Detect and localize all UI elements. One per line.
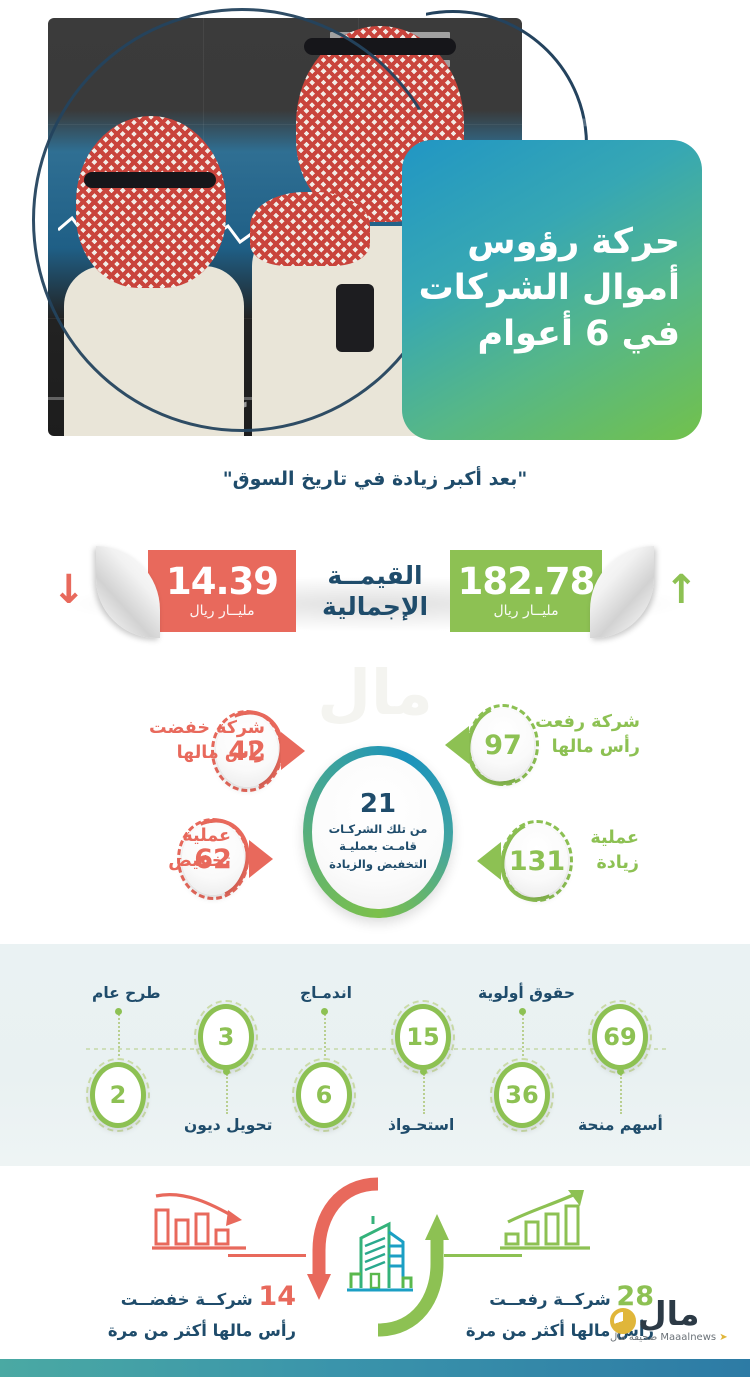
decrease-unit: مليــار ريال [189, 603, 254, 619]
arrow-marker-right-bottom-icon [477, 842, 501, 880]
decreased-more-than-once-text: 14 شركــة خفضــت رأس مالها أكثر من مرة [96, 1276, 296, 1343]
twitter-icon: ➤ [719, 1332, 727, 1343]
timeline-stem-5 [620, 1074, 622, 1114]
connector-line-right [444, 1254, 522, 1257]
timeline-node-3: 15 [391, 1000, 455, 1074]
infographic-page: شركات مال حركة رؤوس أموال الشركات في 6 أ [0, 0, 750, 1377]
decreased-line-2: رأس مالها أكثر من مرة [96, 1318, 296, 1344]
logo-sub-text: صحيفة مال [610, 1332, 657, 1343]
label-line-1: شركة رفعت [485, 710, 640, 735]
arrow-up-icon: ↑ [664, 570, 698, 610]
increase-value-box: 182.78 مليــار ريال [450, 550, 602, 632]
label-line-1: عملية [111, 824, 231, 849]
timeline-stem-1 [226, 1074, 228, 1114]
logo-word: مال [638, 1297, 699, 1330]
label-companies-increased: شركة رفعت رأس مالها [485, 710, 640, 761]
timeline-dot-2 [321, 1008, 328, 1015]
center-ring-content: 21 من تلك الشركـات قامـت بعمليـة التخفيض… [312, 755, 444, 909]
footer-strip [0, 1359, 750, 1377]
timeline-value: 36 [499, 1067, 545, 1123]
title-line-1: حركة رؤوس [420, 219, 680, 265]
hero-watermark: مال [561, 58, 680, 132]
label-line-2: زيادة [519, 851, 639, 876]
hero-section: شركات مال حركة رؤوس أموال الشركات في 6 أ [0, 0, 750, 462]
timeline-dot-3 [420, 1068, 427, 1075]
label-line-1: عملية [519, 826, 639, 851]
timeline-value: 3 [203, 1009, 249, 1065]
multi-change-section: 14 شركــة خفضــت رأس مالها أكثر من مرة 2… [0, 1166, 750, 1356]
connector-line-left [228, 1254, 306, 1257]
timeline-label-4: حقوق أولوية [478, 984, 575, 1002]
timeline-value: 2 [95, 1067, 141, 1123]
center-line-1: من تلك الشركـات [329, 821, 428, 838]
timeline-dot-5 [617, 1068, 624, 1075]
increase-unit: مليــار ريال [493, 603, 558, 619]
operation-types-section: 2 طرح عام 3 تحويل ديون 6 اندمـاج 15 استح… [0, 944, 750, 1166]
mid-watermark: مال [317, 656, 432, 729]
label-line-2: رأس مالها [115, 741, 265, 766]
logo-handle: Maaalnews [660, 1332, 716, 1343]
center-value: 21 [360, 791, 396, 817]
title-line-2: أموال الشركات [420, 265, 680, 311]
center-line-3: التخفيض والزيادة [329, 856, 427, 873]
band-center-label: القيمــة الإجمالية [295, 550, 455, 632]
timeline-connector [86, 1048, 666, 1050]
center-ring: 21 من تلك الشركـات قامـت بعمليـة التخفيض… [303, 746, 453, 918]
companies-donut-section: مال 21 من تلك الشركـات قامـت بعمليـة الت… [0, 672, 750, 944]
label-increase-operations: عملية زيادة [519, 826, 639, 877]
decreased-line-1: شركــة خفضــت [121, 1290, 253, 1309]
timeline-stem-4 [522, 1014, 524, 1056]
timeline-label-0: طرح عام [92, 984, 161, 1002]
decrease-value: 14.39 [166, 563, 278, 600]
label-line-2: رأس مالها [485, 735, 640, 760]
arrow-marker-left-bottom-icon [249, 840, 273, 878]
logo-subtitle: ➤ Maaalnews صحيفة مال [610, 1332, 736, 1343]
timeline-node-0: 2 [86, 1058, 150, 1132]
timeline-node-2: 6 [292, 1058, 356, 1132]
publisher-logo[interactable]: مال ➤ Maaalnews صحيفة مال [610, 1296, 736, 1352]
label-line-1: شركة خفضت [115, 716, 265, 741]
timeline-value: 69 [597, 1009, 643, 1065]
timeline-node-1: 3 [194, 1000, 258, 1074]
decrease-value-box: 14.39 مليــار ريال [148, 550, 296, 632]
timeline-label-2: اندمـاج [300, 984, 352, 1002]
band-center-line-2: الإجمالية [322, 591, 428, 622]
subtitle: "بعد أكبر زيادة في تاريخ السوق" [0, 468, 750, 490]
label-decrease-operations: عملية تخفيض [111, 824, 231, 875]
rising-bar-chart-icon [490, 1188, 600, 1254]
person-left [54, 116, 254, 436]
building-icon [345, 1212, 415, 1292]
timeline-label-5: أسهم منحة [578, 1116, 663, 1134]
center-line-2: قامـت بعمليـة [339, 838, 417, 855]
title-line-3: في 6 أعوام [420, 311, 680, 357]
timeline-stem-2 [324, 1014, 326, 1056]
band-center-line-1: القيمــة [327, 560, 422, 591]
timeline-stem-0 [118, 1014, 120, 1056]
logo-mark: مال [610, 1296, 736, 1330]
increase-value: 182.78 [458, 563, 595, 600]
timeline-node-5: 69 [588, 1000, 652, 1074]
timeline-dot-1 [223, 1068, 230, 1075]
timeline-value: 15 [400, 1009, 446, 1065]
timeline-label-3: استحـواذ [388, 1116, 454, 1134]
timeline-dot-0 [115, 1008, 122, 1015]
arrow-down-icon: ↓ [52, 570, 86, 610]
phone-icon [336, 284, 374, 352]
logo-circle-icon [610, 1308, 636, 1334]
timeline-stem-3 [423, 1074, 425, 1114]
timeline-label-1: تحويل ديون [184, 1116, 272, 1134]
increased-line-1: شركــة رفعــت [489, 1290, 610, 1309]
arrow-marker-right-top-icon [445, 726, 469, 764]
timeline-dot-4 [519, 1008, 526, 1015]
total-value-band: ↓ ↑ 14.39 مليــار ريال 182.78 مليــار ري… [0, 540, 750, 650]
decreased-count: 14 [258, 1281, 296, 1312]
declining-bar-chart-icon [150, 1188, 260, 1254]
timeline-value: 6 [301, 1067, 347, 1123]
timeline-node-4: 36 [490, 1058, 554, 1132]
label-companies-decreased: شركة خفضت رأس مالها [115, 716, 265, 767]
arrow-marker-left-top-icon [281, 732, 305, 770]
label-line-2: تخفيض [111, 849, 231, 874]
title-card: حركة رؤوس أموال الشركات في 6 أعوام [402, 140, 702, 440]
